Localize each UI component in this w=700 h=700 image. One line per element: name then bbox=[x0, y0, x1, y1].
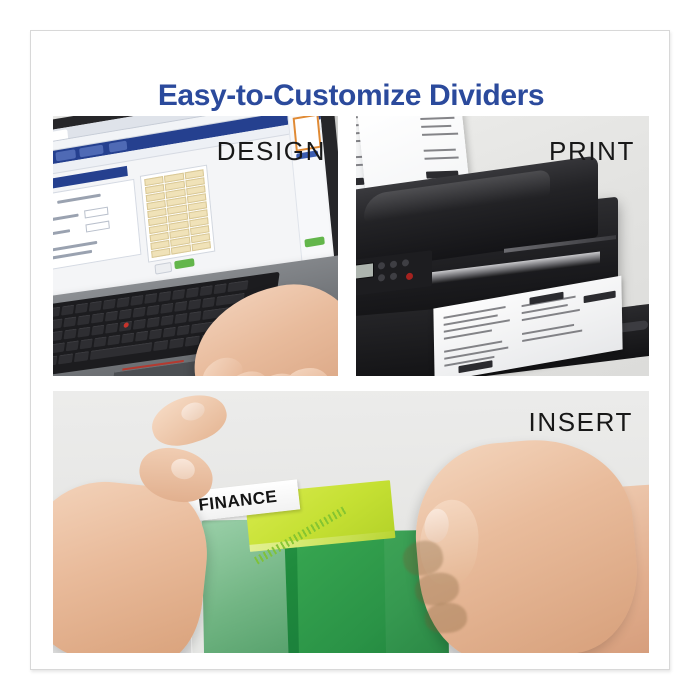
keyboard-key bbox=[172, 289, 185, 300]
keyboard-key bbox=[133, 307, 146, 318]
app-field-label bbox=[53, 229, 70, 237]
keyboard-key bbox=[174, 301, 187, 312]
sheet-text-line bbox=[444, 306, 506, 318]
app-input-field bbox=[84, 207, 108, 219]
sheet-label-block bbox=[529, 292, 563, 305]
keyboard-key bbox=[163, 327, 176, 338]
keyboard-key bbox=[53, 318, 63, 329]
printer-button[interactable] bbox=[390, 260, 397, 268]
app-input-field bbox=[85, 221, 109, 233]
keyboard-key bbox=[53, 307, 60, 318]
label-cell-grid bbox=[144, 169, 211, 258]
keyboard-key bbox=[174, 313, 187, 324]
keyboard-key bbox=[53, 342, 65, 354]
keyboard-key bbox=[161, 315, 174, 326]
keyboard-key bbox=[53, 355, 57, 366]
keyboard-key bbox=[188, 311, 201, 322]
keyboard-key bbox=[121, 333, 134, 344]
panel-label-print: PRINT bbox=[549, 136, 635, 167]
keyboard-key bbox=[91, 313, 104, 324]
keyboard-key bbox=[202, 297, 215, 308]
keyboard-key bbox=[147, 317, 160, 328]
panel-print: PRINT bbox=[356, 116, 649, 376]
keyboard-key bbox=[153, 340, 168, 351]
printer-lcd-display bbox=[356, 262, 374, 281]
printer-button[interactable] bbox=[390, 272, 397, 280]
keyboard-key bbox=[53, 330, 63, 342]
keyboard-key bbox=[80, 338, 93, 349]
keyboard-key bbox=[135, 331, 148, 342]
sheet-text-line bbox=[420, 117, 454, 120]
keyboard-key bbox=[103, 299, 116, 310]
keyboard-key bbox=[177, 325, 190, 336]
keyboard-key bbox=[105, 311, 118, 322]
keyboard-key bbox=[130, 295, 143, 306]
keyboard-key bbox=[77, 315, 90, 326]
sheet-text-line bbox=[424, 157, 458, 160]
keyboard-key bbox=[77, 327, 90, 338]
keyboard-key bbox=[200, 285, 213, 296]
keyboard-key bbox=[74, 351, 89, 362]
label-sheet-preview bbox=[140, 165, 215, 263]
app-settings-card bbox=[53, 179, 141, 272]
panel-insert: FINANCE INSERT bbox=[53, 391, 649, 653]
keyboard-key bbox=[169, 338, 184, 349]
keyboard-key bbox=[188, 299, 201, 310]
keyboard-key bbox=[160, 303, 173, 314]
app-field-label bbox=[53, 214, 79, 224]
panel-design: DESIGN bbox=[53, 116, 338, 376]
panel-label-insert: INSERT bbox=[529, 407, 633, 438]
sheet-text-line bbox=[422, 133, 458, 136]
sheet-label-block bbox=[356, 178, 364, 187]
keyboard-key bbox=[61, 305, 74, 316]
keyboard-key bbox=[91, 325, 104, 336]
printer-button[interactable] bbox=[378, 274, 385, 282]
finger bbox=[283, 365, 331, 376]
keyboard-key bbox=[93, 336, 106, 347]
keyboard-key bbox=[149, 329, 162, 340]
keyboard-key bbox=[105, 323, 118, 334]
printer-button[interactable] bbox=[378, 262, 385, 270]
product-image-card: Easy-to-Customize Dividers bbox=[30, 30, 670, 670]
keyboard-key bbox=[158, 291, 171, 302]
sheet-text-line bbox=[424, 149, 456, 152]
keyboard-key bbox=[214, 283, 227, 294]
screenshot-root: Easy-to-Customize Dividers bbox=[0, 0, 700, 700]
keyboard-key bbox=[144, 293, 157, 304]
app-card-title bbox=[57, 194, 101, 204]
page-title: Easy-to-Customize Dividers bbox=[31, 79, 671, 113]
keyboard-key bbox=[186, 287, 199, 298]
keyboard-key bbox=[119, 309, 132, 320]
printer-power-button[interactable] bbox=[406, 272, 413, 280]
finger bbox=[195, 350, 248, 376]
printer-button[interactable] bbox=[402, 259, 409, 267]
keyboard-key bbox=[133, 319, 146, 330]
keyboard-key bbox=[63, 329, 76, 340]
keyboard-key bbox=[58, 353, 73, 364]
keyboard-key bbox=[66, 340, 79, 351]
keyboard-key bbox=[89, 301, 102, 312]
app-radio-option bbox=[53, 250, 92, 261]
label-strip-text: FINANCE bbox=[198, 487, 279, 516]
sheet-text-line bbox=[421, 125, 451, 128]
keyboard-key bbox=[227, 280, 248, 292]
app-next-button[interactable] bbox=[174, 258, 194, 269]
app-cancel-button[interactable] bbox=[154, 262, 172, 275]
sheet-label-block bbox=[584, 291, 616, 304]
panel-label-design: DESIGN bbox=[217, 136, 326, 167]
keyboard-key bbox=[75, 303, 88, 314]
keyboard-key bbox=[63, 316, 76, 327]
keyboard-key bbox=[116, 297, 129, 308]
keyboard-key bbox=[107, 334, 120, 345]
keyboard-key bbox=[146, 305, 159, 316]
